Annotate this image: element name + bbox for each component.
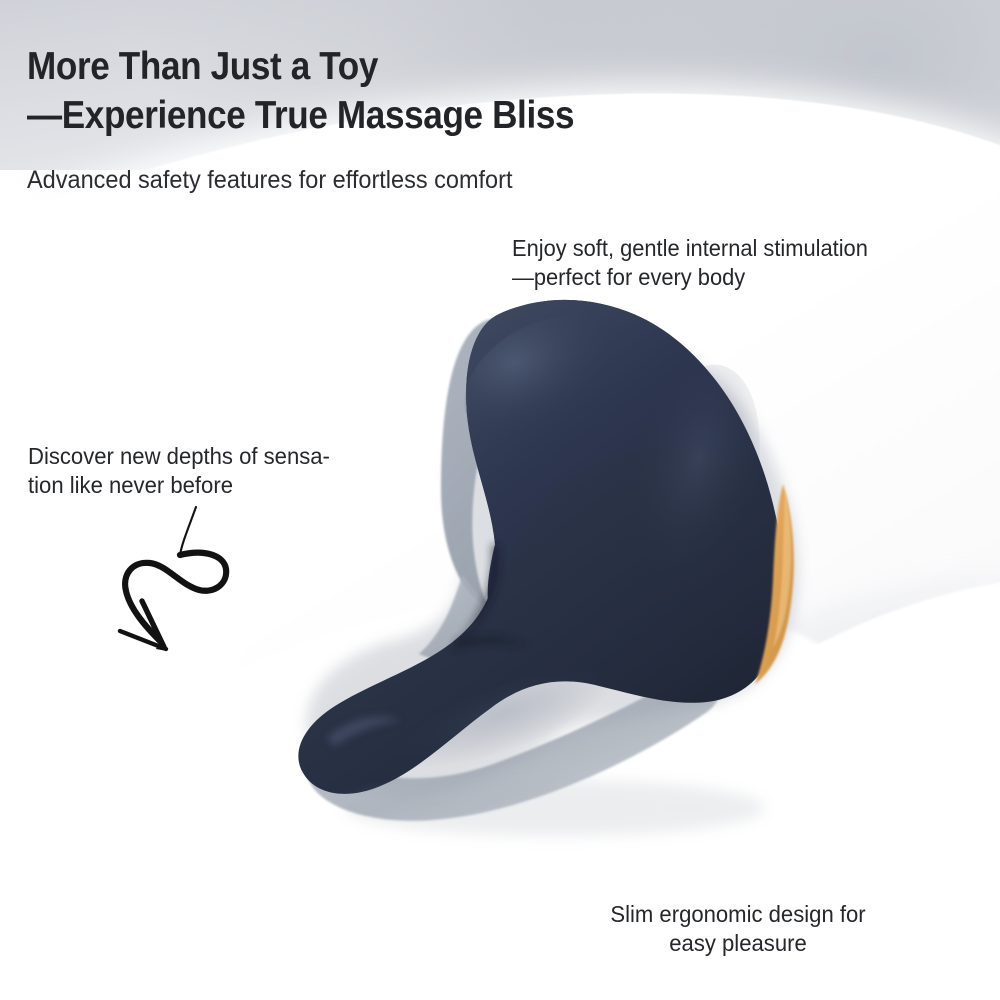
callout-top-right: Enjoy soft, gentle internal stimulation … xyxy=(512,234,868,292)
callout-left: Discover new depths of sensa- tion like … xyxy=(28,442,330,500)
curly-arrow-down-right-icon xyxy=(108,505,248,665)
product-feature-banner: More Than Just a Toy —Experience True Ma… xyxy=(0,0,1000,1000)
product-body xyxy=(298,290,784,794)
page-subtitle: Advanced safety features for effortless … xyxy=(27,165,512,195)
callout-bottom: Slim ergonomic design for easy pleasure xyxy=(570,900,906,958)
product-image xyxy=(255,268,875,828)
page-title: More Than Just a Toy —Experience True Ma… xyxy=(27,42,873,140)
